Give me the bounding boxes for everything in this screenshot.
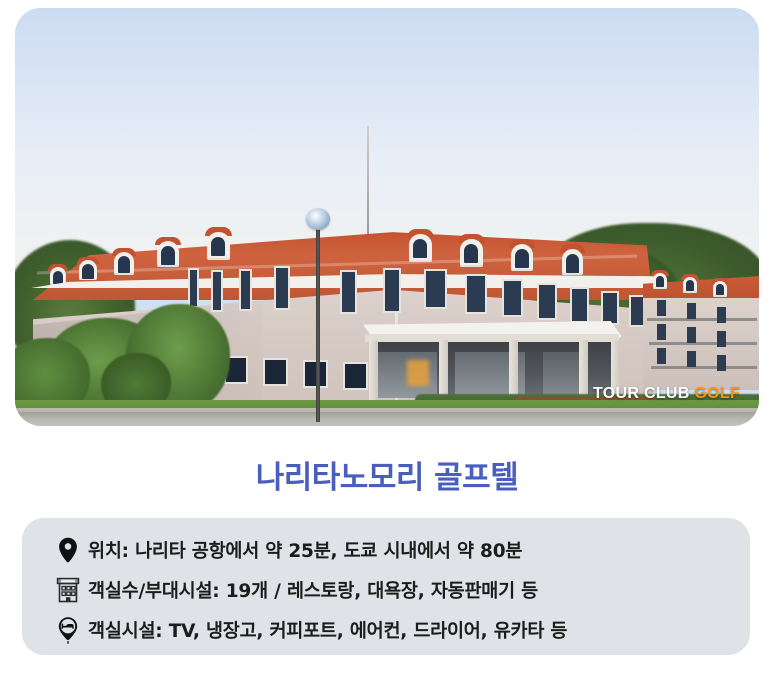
- watermark-brand: TOUR CLUB: [593, 385, 690, 402]
- room-bed-pin-icon: [48, 616, 88, 644]
- dormer-window: [409, 234, 432, 262]
- hotel-info-box: 위치: 나리타 공항에서 약 25분, 도쿄 시내에서 약 80분 객실수/부대…: [22, 518, 750, 655]
- lobby-light-glow: [407, 360, 429, 386]
- window: [465, 274, 487, 314]
- window: [717, 355, 726, 371]
- driveway: [15, 412, 759, 426]
- dormer-window: [683, 277, 697, 293]
- hotel-building-icon: [48, 577, 88, 603]
- canopy-column: [509, 340, 518, 402]
- dormer-window: [460, 239, 483, 267]
- dormer-window: [653, 273, 667, 289]
- window: [239, 269, 252, 311]
- dormer-window: [157, 241, 179, 267]
- balcony-rail: [647, 318, 757, 321]
- window: [343, 362, 368, 390]
- window: [717, 307, 726, 323]
- hotel-info-card: TOUR CLUB GOLF 나리타노모리 골프텔 위치: 나리타 공항에서 약…: [0, 0, 774, 677]
- canopy-column: [439, 340, 448, 402]
- window: [188, 268, 199, 308]
- map-pin-icon: [48, 537, 88, 563]
- watermark-suffix: GOLF: [694, 385, 740, 402]
- info-rooms-text: 객실수/부대시설: 19개 / 레스토랑, 대욕장, 자동판매기 등: [88, 577, 538, 603]
- window: [657, 324, 666, 340]
- hotel-exterior-photo: TOUR CLUB GOLF: [15, 8, 759, 426]
- info-row-amenities: 객실시설: TV, 냉장고, 커피포트, 에어컨, 드라이어, 유카타 등: [48, 612, 726, 648]
- info-row-location: 위치: 나리타 공항에서 약 25분, 도쿄 시내에서 약 80분: [48, 532, 726, 568]
- canopy-column: [369, 340, 378, 402]
- window: [424, 269, 447, 309]
- window: [687, 351, 696, 367]
- dormer-window: [713, 281, 727, 297]
- dormer-window: [114, 252, 134, 275]
- window: [340, 270, 357, 314]
- window: [502, 279, 523, 317]
- photo-scene: TOUR CLUB GOLF: [15, 8, 759, 426]
- window: [383, 268, 401, 313]
- window: [274, 266, 290, 310]
- dormer-window: [562, 249, 583, 275]
- window: [263, 358, 288, 386]
- canopy-column: [579, 340, 588, 402]
- dormer-window: [207, 232, 230, 260]
- rooftop-antenna: [367, 126, 369, 236]
- window: [657, 348, 666, 364]
- window: [211, 270, 223, 312]
- dormer-window: [79, 260, 97, 280]
- window: [687, 303, 696, 319]
- watermark: TOUR CLUB GOLF: [593, 385, 740, 403]
- window: [717, 331, 726, 347]
- window: [570, 287, 589, 323]
- window: [687, 327, 696, 343]
- lamp-post-globe: [306, 208, 330, 230]
- info-row-rooms: 객실수/부대시설: 19개 / 레스토랑, 대욕장, 자동판매기 등: [48, 572, 726, 608]
- dormer-window: [50, 267, 66, 285]
- info-amenities-text: 객실시설: TV, 냉장고, 커피포트, 에어컨, 드라이어, 유카타 등: [88, 617, 567, 643]
- entrance-glass-right: [543, 352, 583, 398]
- window: [537, 283, 557, 320]
- page-title: 나리타노모리 골프텔: [0, 452, 774, 497]
- window: [601, 291, 619, 325]
- balcony-rail: [651, 366, 757, 369]
- balcony-rail: [649, 342, 757, 345]
- window: [657, 300, 666, 316]
- dormer-window: [511, 244, 533, 271]
- lamp-post-pole: [316, 222, 320, 422]
- info-location-text: 위치: 나리타 공항에서 약 25분, 도쿄 시내에서 약 80분: [88, 537, 522, 563]
